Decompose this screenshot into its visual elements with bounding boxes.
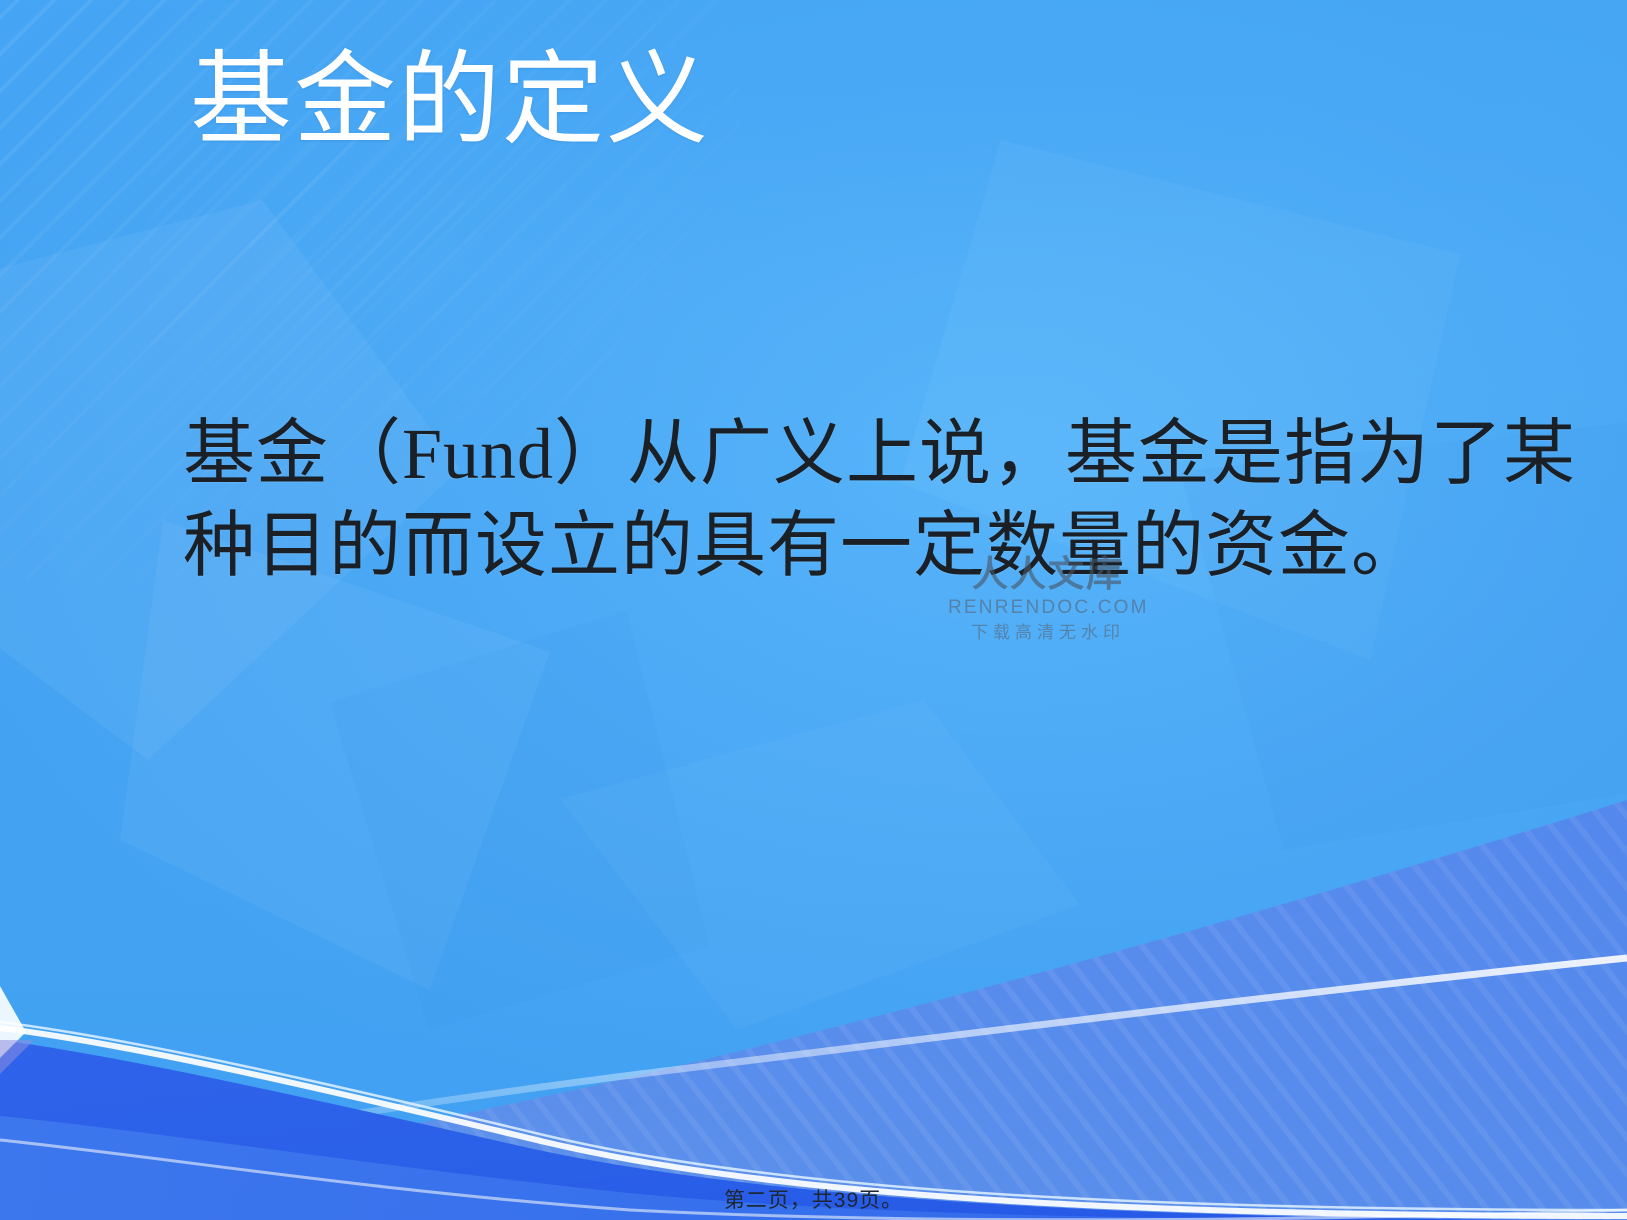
watermark-brand: 人人文库 <box>948 556 1148 594</box>
watermark-tagline: 下载高清无水印 <box>948 622 1148 644</box>
presentation-slide: 基金的定义 基金（Fund）从广义上说，基金是指为了某 种目的而设立的具有一定数… <box>0 0 1627 1220</box>
body-text-line-1: 基金（Fund）从广义上说，基金是指为了某 <box>183 408 1473 500</box>
watermark: 人人文库 RENRENDOC.COM 下载高清无水印 <box>948 556 1148 644</box>
slide-page-footer: 第二页，共39页。 <box>0 1184 1627 1214</box>
body-text-line-2: 种目的而设立的具有一定数量的资金。 <box>183 500 1473 592</box>
slide-title: 基金的定义 <box>190 45 710 155</box>
watermark-url: RENRENDOC.COM <box>948 596 1148 620</box>
bottom-wave-decoration <box>0 740 1627 1220</box>
slide-body-text: 基金（Fund）从广义上说，基金是指为了某 种目的而设立的具有一定数量的资金。 <box>183 408 1473 592</box>
